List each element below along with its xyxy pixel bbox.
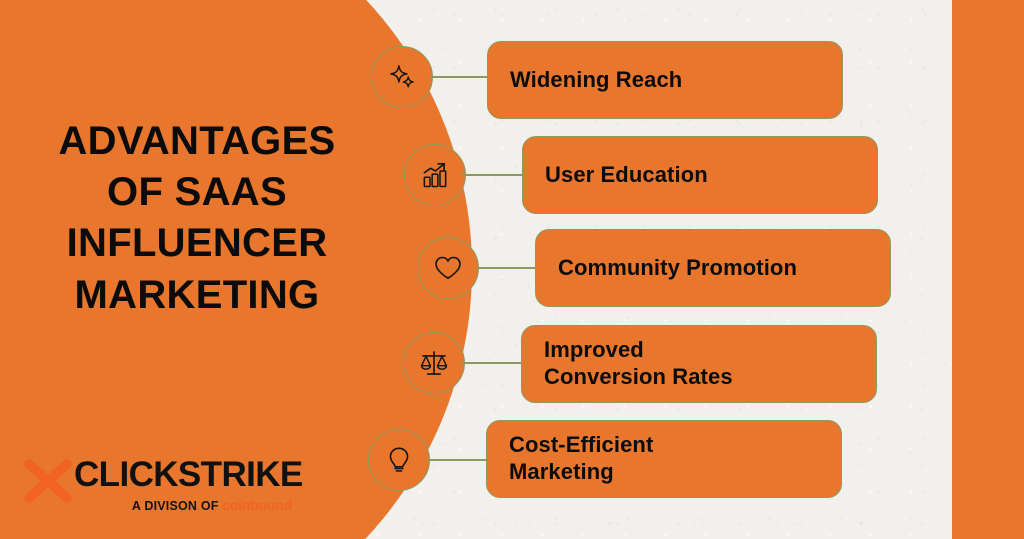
node-circle-cost-efficient-marketing[interactable]: [368, 429, 430, 491]
node-circle-improved-conversion-rates[interactable]: [403, 332, 465, 394]
connector-line-community-promotion: [476, 267, 542, 269]
label-text: Cost-Efficient Marketing: [487, 432, 653, 486]
logo-tagline-prefix: A DIVISON OF: [132, 499, 222, 513]
lightbulb-icon: [383, 444, 415, 476]
right-edge-orange-band: [952, 0, 1024, 539]
page-title-line-3: INFLUENCER: [0, 218, 394, 269]
logo-tagline: A DIVISON OF coinbound: [80, 497, 292, 513]
balance-scales-icon: [418, 347, 450, 379]
label-box-widening-reach[interactable]: Widening Reach: [487, 41, 843, 119]
connector-line-user-education: [462, 174, 528, 176]
label-text: Widening Reach: [488, 67, 682, 94]
label-box-user-education[interactable]: User Education: [522, 136, 878, 214]
node-circle-community-promotion[interactable]: [417, 237, 479, 299]
heart-icon: [432, 252, 464, 284]
page-title-line-4: MARKETING: [0, 270, 394, 321]
infographic-canvas: ADVANTAGES OF SAAS INFLUENCER MARKETING …: [0, 0, 1024, 539]
page-title: ADVANTAGES OF SAAS INFLUENCER MARKETING: [0, 116, 394, 321]
logo-tagline-brand: coinbound: [222, 497, 292, 513]
connector-line-cost-efficient-marketing: [427, 459, 493, 461]
label-box-improved-conversion-rates[interactable]: Improved Conversion Rates: [521, 325, 877, 403]
bar-chart-growth-icon: [419, 159, 451, 191]
label-text: Improved Conversion Rates: [522, 337, 733, 391]
label-text: Community Promotion: [536, 255, 797, 282]
page-title-line-2: OF SAAS: [0, 167, 394, 218]
node-circle-user-education[interactable]: [404, 144, 466, 206]
node-circle-widening-reach[interactable]: [371, 46, 433, 108]
label-box-community-promotion[interactable]: Community Promotion: [535, 229, 891, 307]
clickstrike-logo[interactable]: CLICKSTRIKE A DIVISON OF coinbound: [22, 449, 292, 521]
connector-line-improved-conversion-rates: [461, 362, 527, 364]
logo-wordmark: CLICKSTRIKE: [74, 455, 303, 495]
x-mark-icon: [22, 457, 74, 505]
label-text: User Education: [523, 162, 708, 189]
sparkles-icon: [386, 61, 418, 93]
page-title-line-1: ADVANTAGES: [0, 116, 394, 167]
label-box-cost-efficient-marketing[interactable]: Cost-Efficient Marketing: [486, 420, 842, 498]
